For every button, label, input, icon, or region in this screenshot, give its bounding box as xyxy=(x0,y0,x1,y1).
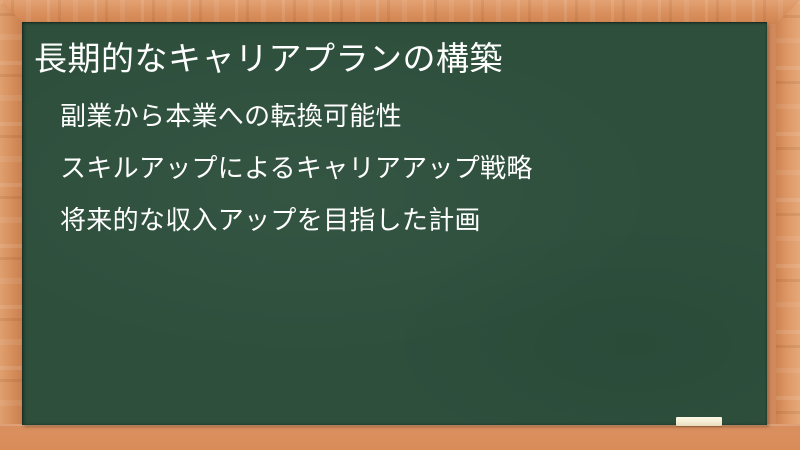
frame-left-edge xyxy=(0,0,24,450)
chalkboard-surface: 長期的なキャリアプランの構築 副業から本業への転換可能性 スキルアップによるキャ… xyxy=(22,22,767,425)
page-title: 長期的なキャリアプランの構築 xyxy=(34,38,754,79)
chalkboard-content: 長期的なキャリアプランの構築 副業から本業への転換可能性 スキルアップによるキャ… xyxy=(22,22,767,425)
list-item: 副業から本業への転換可能性 xyxy=(60,104,750,130)
bullet-list: 副業から本業への転換可能性 スキルアップによるキャリアアップ戦略 将来的な収入ア… xyxy=(60,104,750,260)
chalkboard-slide: 長期的なキャリアプランの構築 副業から本業への転換可能性 スキルアップによるキャ… xyxy=(0,0,800,450)
chalk-tray xyxy=(0,424,800,450)
chalk-stick-icon xyxy=(676,417,722,426)
frame-right-edge xyxy=(776,0,800,450)
list-item: スキルアップによるキャリアアップ戦略 xyxy=(60,156,750,182)
list-item: 将来的な収入アップを目指した計画 xyxy=(60,208,750,234)
frame-top-edge xyxy=(0,0,800,24)
